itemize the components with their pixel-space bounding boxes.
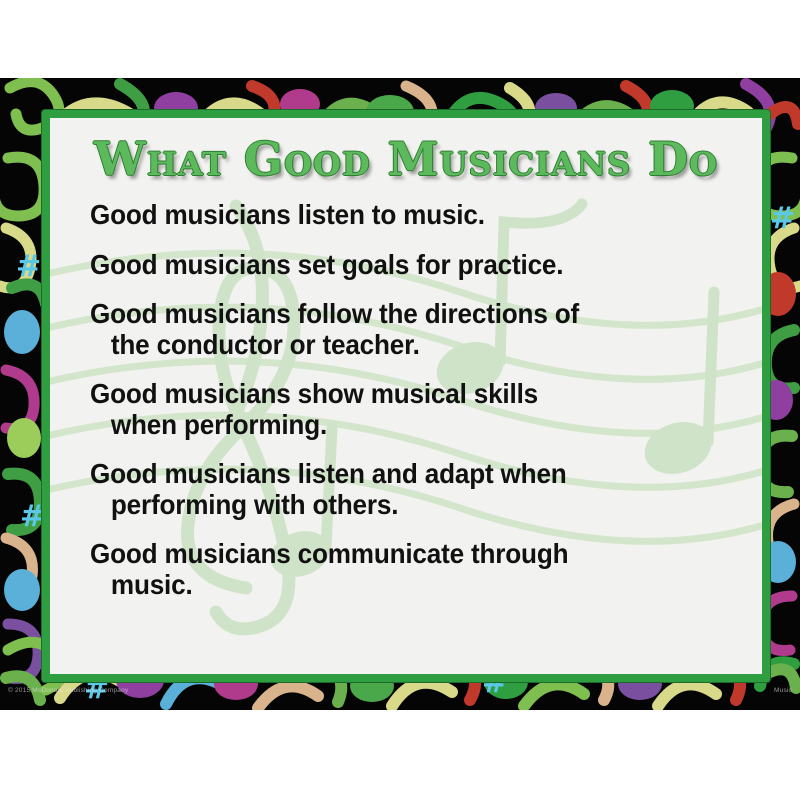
list-item: Good musicians follow the directions of …	[90, 299, 715, 360]
statement-text: Good musicians set goals for practice.	[90, 249, 563, 280]
svg-text:#: #	[770, 201, 795, 236]
statement-text: Good musicians follow the directions of	[90, 298, 579, 329]
statement-text-continued: the conductor or teacher.	[90, 330, 715, 361]
statement-text: Good musicians listen and adapt when	[90, 458, 567, 489]
statement-text-continued: performing with others.	[90, 490, 715, 521]
list-item: Good musicians listen to music.	[90, 200, 715, 231]
list-item: Good musicians listen and adapt when per…	[90, 459, 715, 520]
poster-stage: # # # # # #	[0, 0, 800, 800]
statement-text: Good musicians listen to music.	[90, 199, 485, 230]
svg-text:#: #	[16, 249, 41, 284]
subject-label: Music	[774, 687, 792, 694]
statement-text: Good musicians show musical skills	[90, 378, 538, 409]
statement-text: Good musicians communicate through	[90, 538, 568, 569]
poster-panel: What Good Musicians Do Good musicians li…	[50, 118, 762, 674]
list-item: Good musicians set goals for practice.	[90, 250, 715, 281]
music-poster: # # # # # #	[0, 78, 800, 710]
statements-list: Good musicians listen to music. Good mus…	[90, 200, 748, 619]
list-item: Good musicians show musical skills when …	[90, 379, 715, 440]
statement-text-continued: music.	[90, 570, 715, 601]
page-title: What Good Musicians Do	[50, 132, 762, 186]
list-item: Good musicians communicate through music…	[90, 539, 715, 600]
poster-frame: What Good Musicians Do Good musicians li…	[42, 110, 770, 682]
statement-text-continued: when performing.	[90, 410, 715, 441]
copyright-notice: © 2015 McDonald Publishing Company	[8, 687, 128, 694]
